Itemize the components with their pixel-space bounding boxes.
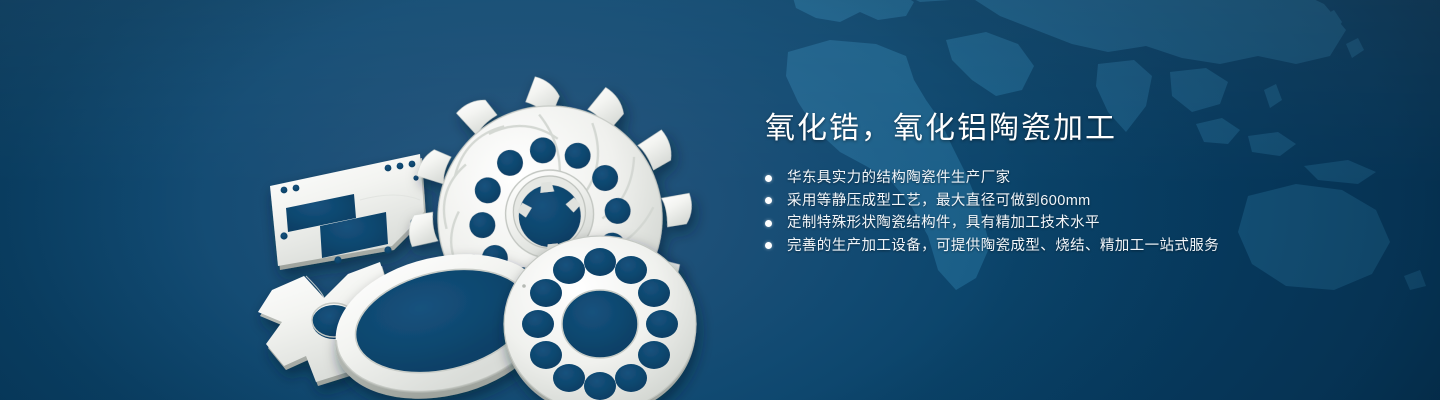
- product-photo: [210, 40, 710, 380]
- list-item-label: 完善的生产加工设备，可提供陶瓷成型、烧结、精加工一站式服务: [787, 238, 1219, 254]
- hero-banner: 氧化锆，氧化铝陶瓷加工 华东具实力的结构陶瓷件生产厂家 采用等静压成型工艺，最大…: [0, 0, 1440, 400]
- list-item-label: 华东具实力的结构陶瓷件生产厂家: [787, 170, 1011, 186]
- list-item-label: 采用等静压成型工艺，最大直径可做到600mm: [787, 193, 1091, 209]
- bullet-dot-icon: [765, 242, 772, 249]
- list-item: 华东具实力的结构陶瓷件生产厂家: [765, 167, 1385, 190]
- list-item: 完善的生产加工设备，可提供陶瓷成型、烧结、精加工一站式服务: [765, 235, 1385, 258]
- banner-text-block: 氧化锆，氧化铝陶瓷加工 华东具实力的结构陶瓷件生产厂家 采用等静压成型工艺，最大…: [765, 110, 1385, 257]
- list-item: 采用等静压成型工艺，最大直径可做到600mm: [765, 190, 1385, 213]
- feature-list: 华东具实力的结构陶瓷件生产厂家 采用等静压成型工艺，最大直径可做到600mm 定…: [765, 167, 1385, 257]
- page-title: 氧化锆，氧化铝陶瓷加工: [765, 110, 1385, 148]
- bullet-dot-icon: [765, 175, 772, 182]
- bullet-dot-icon: [765, 220, 772, 227]
- list-item-label: 定制特殊形状陶瓷结构件，具有精加工技术水平: [787, 215, 1100, 231]
- bullet-dot-icon: [765, 197, 772, 204]
- ceramic-plate: [270, 154, 426, 270]
- ceramic-perforated-disc: [504, 236, 696, 400]
- list-item: 定制特殊形状陶瓷结构件，具有精加工技术水平: [765, 212, 1385, 235]
